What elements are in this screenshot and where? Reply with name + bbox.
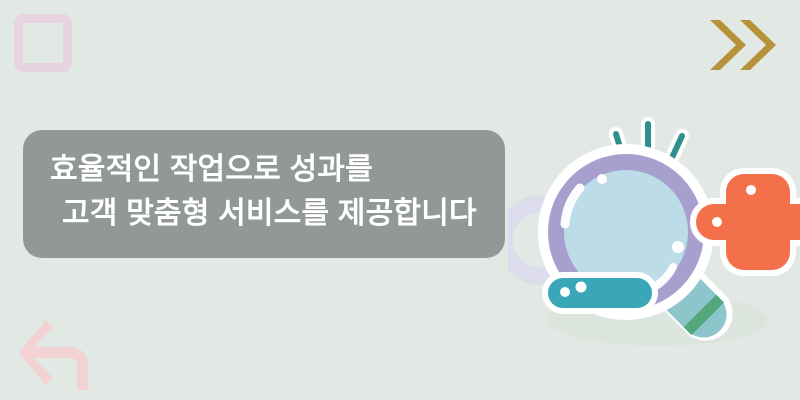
headline-card: 효율적인 작업으로 성과를 고객 맞춤형 서비스를 제공합니다 (23, 130, 505, 258)
double-chevron-right-icon (706, 16, 778, 74)
reply-arrow-icon (8, 310, 118, 394)
headline-line-2: 고객 맞춤형 서비스를 제공합니다 (50, 192, 505, 236)
magnifying-glass-illustration (508, 112, 800, 362)
plus-icon (696, 174, 800, 270)
promo-banner: 효율적인 작업으로 성과를 고객 맞춤형 서비스를 제공합니다 (0, 0, 800, 400)
pill-shape (542, 272, 658, 314)
square-outline-icon (14, 14, 72, 72)
headline-line-1: 효율적인 작업으로 성과를 (50, 148, 505, 192)
